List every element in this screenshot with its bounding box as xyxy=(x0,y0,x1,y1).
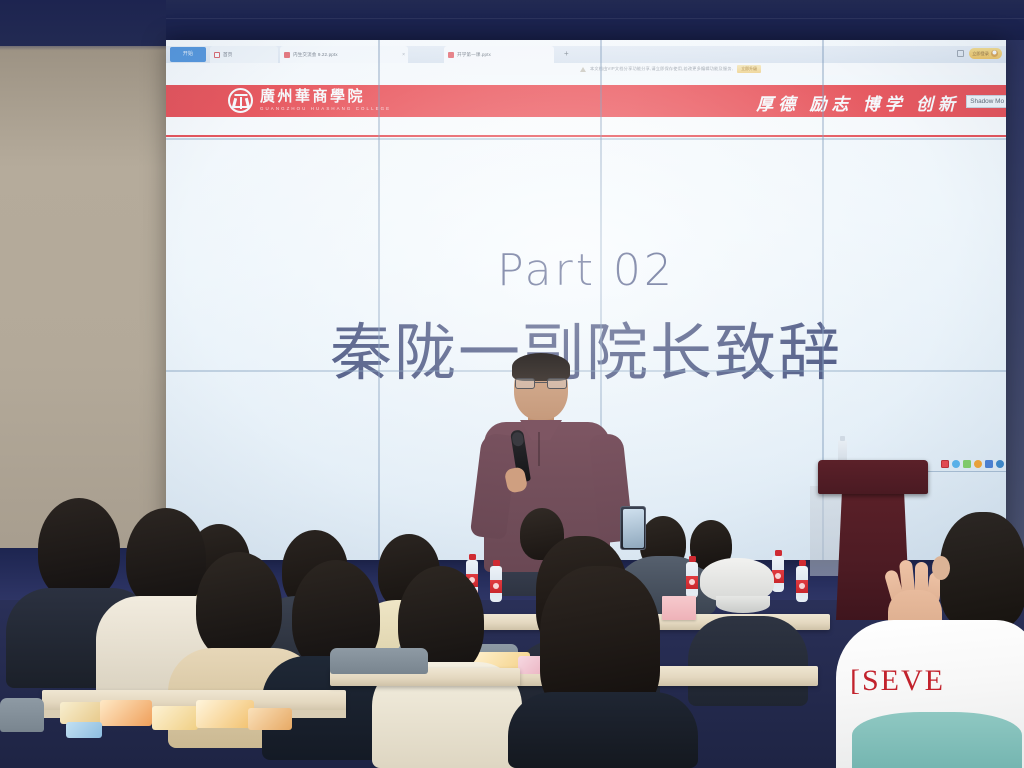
mail-icon[interactable] xyxy=(985,460,993,468)
chair-back xyxy=(330,648,428,674)
snack-pack xyxy=(100,700,152,726)
snack-pack xyxy=(196,700,254,728)
snack-pack xyxy=(248,708,292,730)
water-bottle xyxy=(490,566,502,602)
huashang-emblem-icon xyxy=(228,88,253,113)
browser-icon[interactable] xyxy=(941,460,949,468)
start-button[interactable]: 开始 xyxy=(170,47,206,62)
window-controls: 立即登录 xyxy=(957,48,1002,59)
wechat-icon[interactable] xyxy=(963,460,971,468)
restore-window-icon[interactable] xyxy=(957,50,964,57)
browser-tab-2[interactable]: 内生交流会 9.22.pptx × xyxy=(280,46,408,63)
speaker-shirt-placket xyxy=(538,432,540,466)
vip-notification-bar: 本文档由VIP文档分享功能分享,请立即保存使用,若改更多编辑功能及服务, 立即升… xyxy=(460,63,1006,75)
foreground-person-head xyxy=(940,512,1024,628)
foreground-person-tshirt: [SEVE xyxy=(836,620,1024,768)
slide-header-underline xyxy=(166,135,1006,137)
slide-header-white-strip xyxy=(166,117,1006,137)
college-name-en: GUANGZHOU HUASHANG COLLEGE xyxy=(260,105,391,112)
vip-notification-text: 本文档由VIP文档分享功能分享,请立即保存使用,若改更多编辑功能及服务, xyxy=(590,66,733,72)
audience-shoulders xyxy=(688,616,808,706)
browser-tab-1-title: 首页 xyxy=(223,52,232,58)
media-icon[interactable] xyxy=(974,460,982,468)
tshirt-text: [SEVE xyxy=(850,664,1024,698)
videowall-bezel-4 xyxy=(166,138,1006,140)
college-name-cn: 廣州華商學院 xyxy=(260,89,391,105)
settings-icon[interactable] xyxy=(996,460,1004,468)
audience-head xyxy=(38,498,120,600)
upgrade-button[interactable]: 立即升级 xyxy=(737,65,761,73)
college-logo: 廣州華商學院 GUANGZHOU HUASHANG COLLEGE xyxy=(228,88,391,113)
eyeglasses-icon xyxy=(515,378,567,389)
cap-brim xyxy=(716,596,770,613)
side-wall-left-top xyxy=(0,0,166,46)
water-bottle xyxy=(686,562,698,598)
side-wall-left xyxy=(0,0,166,560)
snack-pack xyxy=(152,706,198,730)
browser-tab-1[interactable]: 首页 xyxy=(210,46,278,63)
audience-head xyxy=(196,552,282,660)
college-motto: 厚德 励志 博学 创新 xyxy=(756,90,960,115)
name-card xyxy=(662,596,696,620)
qq-icon[interactable] xyxy=(952,460,960,468)
ppt-file-icon xyxy=(284,52,290,58)
ppt-file-icon xyxy=(448,52,454,58)
upgrade-button-label: 立即升级 xyxy=(741,66,757,72)
snack-pack xyxy=(60,702,102,724)
podium-top xyxy=(818,460,928,494)
shadow-mode-label: Shadow Mo xyxy=(970,98,1004,105)
browser-window: 开始 首页 内生交流会 9.22.pptx × 开学第一课.pptx + xyxy=(166,40,1006,85)
ear xyxy=(932,556,950,580)
chair-back xyxy=(0,698,44,732)
speaker-hair xyxy=(512,353,570,381)
videowall-bezel-1 xyxy=(378,40,380,560)
slide-part-label: Part 02 xyxy=(166,245,1006,296)
browser-tab-2-title: 内生交流会 9.22.pptx xyxy=(293,52,338,58)
start-button-label: 开始 xyxy=(170,47,206,62)
new-tab-button[interactable]: + xyxy=(564,49,569,59)
conference-hall-photo: 开始 首页 内生交流会 9.22.pptx × 开学第一课.pptx + xyxy=(0,0,1024,768)
shadow-mode-tooltip: Shadow Mo xyxy=(966,95,1006,108)
desktop-taskbar-right xyxy=(941,460,1004,468)
user-login-badge[interactable]: 立即登录 xyxy=(969,48,1002,59)
audience-head xyxy=(126,508,206,608)
wps-doc-icon xyxy=(214,52,220,58)
warning-triangle-icon xyxy=(580,67,586,72)
browser-tab-strip: 开始 首页 内生交流会 9.22.pptx × 开学第一课.pptx + xyxy=(166,46,1006,63)
tshirt-teal-band xyxy=(852,712,1022,768)
user-avatar-icon xyxy=(991,50,998,57)
slide-header-banner: 廣州華商學院 GUANGZHOU HUASHANG COLLEGE 厚德 励志 … xyxy=(166,85,1006,117)
audience-shoulders xyxy=(508,692,698,768)
browser-tab-3[interactable]: 开学第一课.pptx xyxy=(444,46,554,63)
browser-tab-3-title: 开学第一课.pptx xyxy=(457,52,491,58)
side-wall-right xyxy=(1004,40,1024,560)
smartphone-recording xyxy=(620,506,646,550)
user-login-label: 立即登录 xyxy=(972,51,989,57)
tab-2-close-icon[interactable]: × xyxy=(402,52,405,58)
water-bottle xyxy=(796,566,808,602)
snack-pack xyxy=(66,722,102,738)
